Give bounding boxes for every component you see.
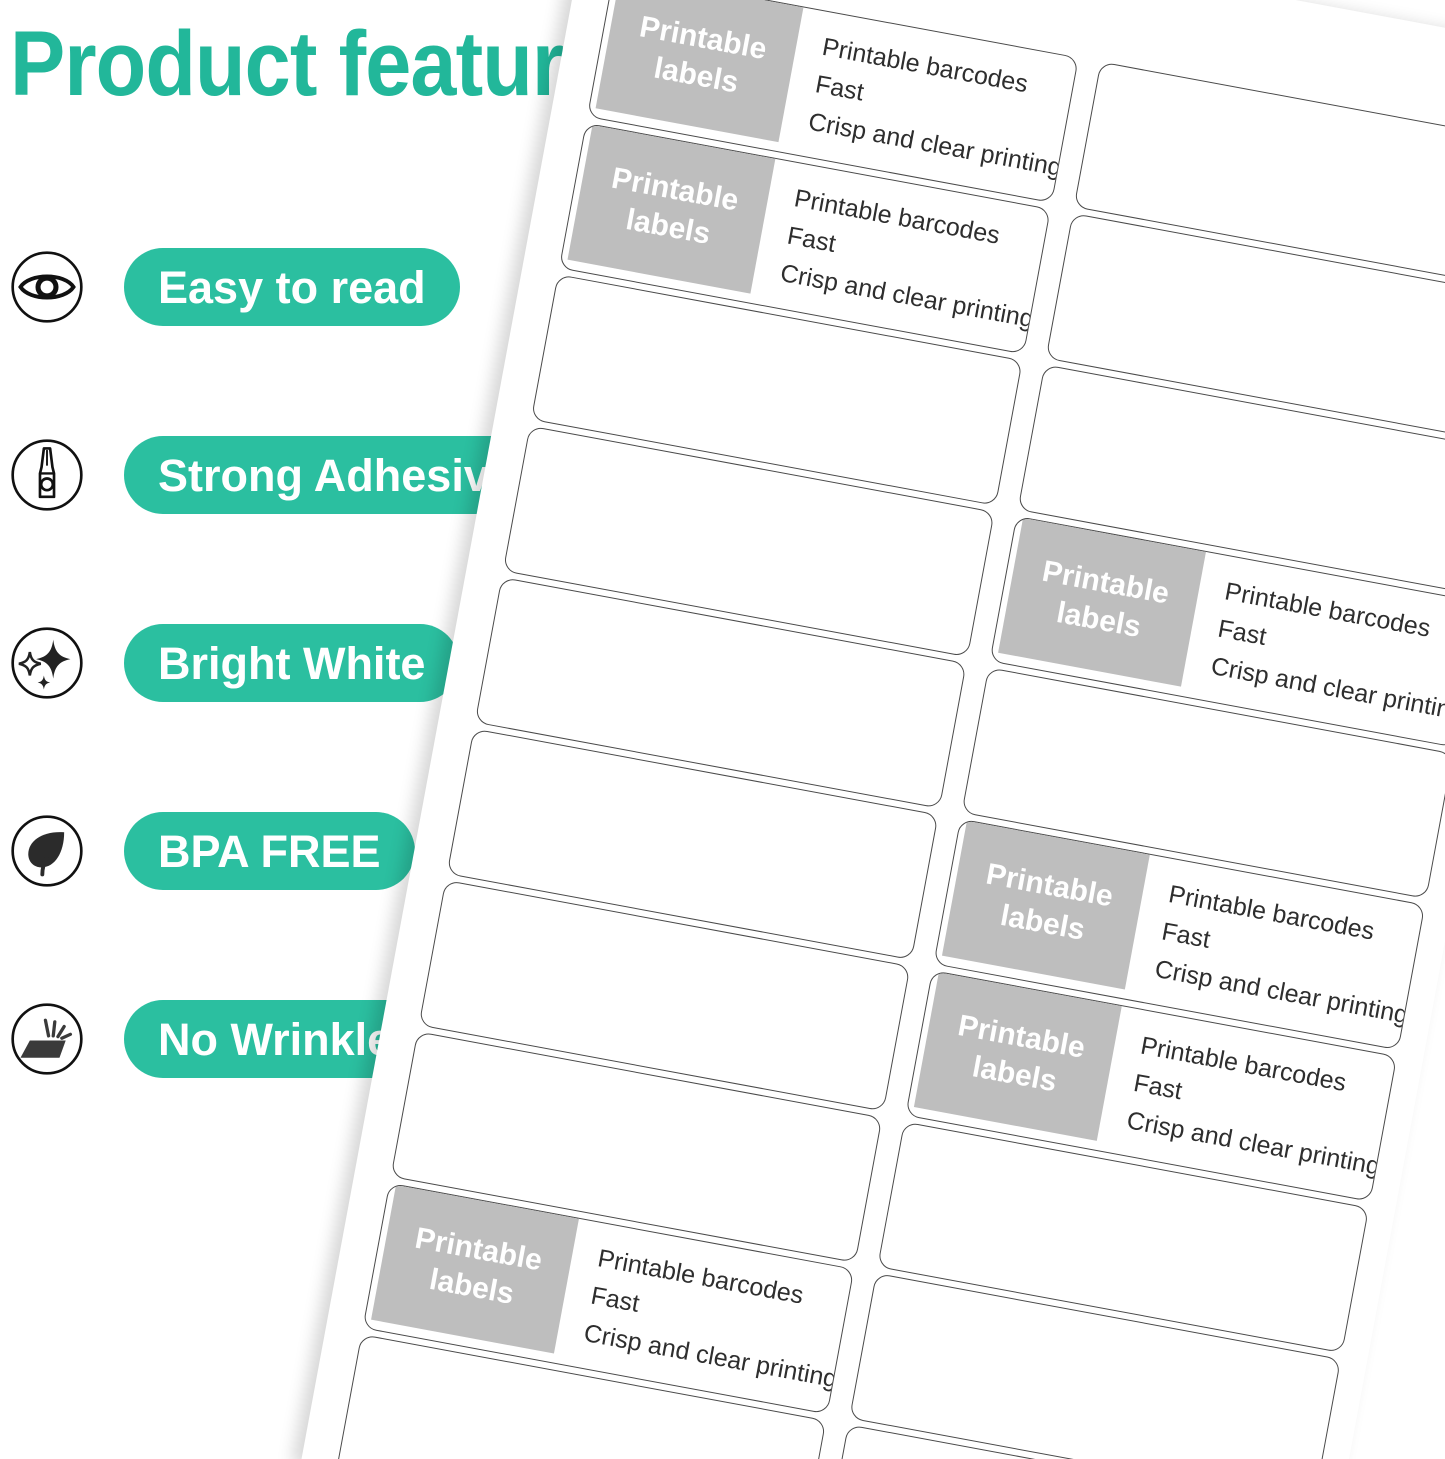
- feature-badge-easy-to-read[interactable]: Easy to read: [124, 248, 460, 326]
- product-features-infographic: Product features Easy to read St: [0, 0, 1445, 1459]
- printable-labels-badge: Printablelabels: [371, 1184, 579, 1354]
- label-grid: PrintablelabelsPrintable barcodesFastCri…: [338, 0, 1445, 1459]
- label-feature-lines: Printable barcodesFastCrisp and clear pr…: [1152, 875, 1426, 1034]
- glue-bottle-icon: [8, 436, 86, 514]
- label-feature-lines: Printable barcodesFastCrisp and clear pr…: [1208, 572, 1445, 731]
- printable-labels-badge: Printablelabels: [942, 820, 1150, 990]
- feature-label: Easy to read: [158, 265, 426, 310]
- printable-labels-badge: Printablelabels: [998, 517, 1206, 687]
- smooth-surface-icon: [8, 1000, 86, 1078]
- label-sheet-photo: PrintablelabelsPrintable barcodesFastCri…: [301, 0, 1445, 1459]
- label-sheet: PrintablelabelsPrintable barcodesFastCri…: [301, 0, 1445, 1459]
- printable-labels-badge: Printablelabels: [914, 971, 1122, 1141]
- printable-labels-badge: Printablelabels: [568, 124, 776, 294]
- label-feature-lines: Printable barcodesFastCrisp and clear pr…: [1124, 1027, 1398, 1186]
- eye-icon: [8, 248, 86, 326]
- sparkles-icon: [8, 624, 86, 702]
- feature-badge-bpa-free[interactable]: BPA FREE: [124, 812, 415, 890]
- feature-badge-bright-white[interactable]: Bright White: [124, 624, 459, 702]
- feature-label: Strong Adhesive: [158, 453, 514, 498]
- leaf-icon: [8, 812, 86, 890]
- feature-label: BPA FREE: [158, 829, 381, 874]
- label-feature-lines: Printable barcodesFastCrisp and clear pr…: [805, 28, 1079, 187]
- printable-labels-badge: Printablelabels: [596, 0, 804, 142]
- feature-label: Bright White: [158, 641, 425, 686]
- label-feature-lines: Printable barcodesFastCrisp and clear pr…: [581, 1239, 855, 1398]
- label-feature-lines: Printable barcodesFastCrisp and clear pr…: [777, 179, 1051, 338]
